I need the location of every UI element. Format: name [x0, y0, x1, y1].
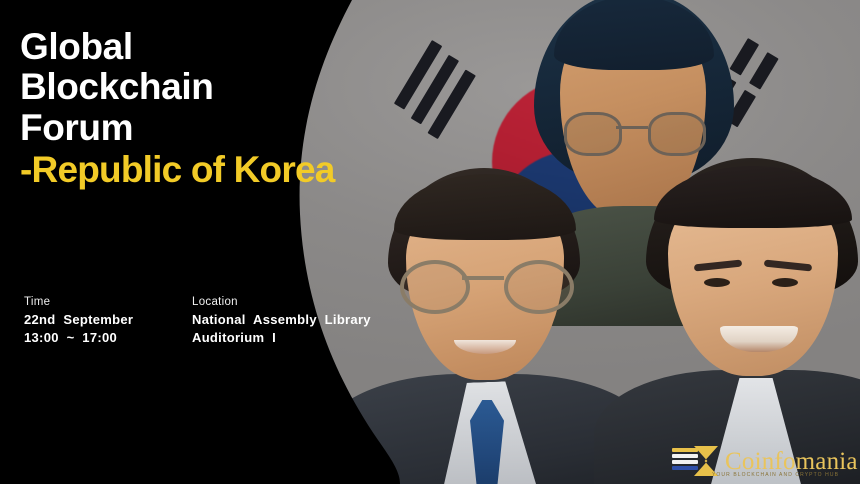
time-range: 13:00 ~ 17:00: [24, 329, 192, 347]
coinfomania-wordmark: Coinfomania: [725, 449, 858, 474]
time-block: Time 22nd September 13:00 ~ 17:00: [24, 296, 192, 347]
title-line-2: Blockchain: [20, 68, 380, 106]
round-glasses-icon: [400, 260, 572, 308]
page-title: Global Blockchain Forum -Republic of Kor…: [20, 28, 380, 192]
title-line-3: Forum: [20, 109, 380, 147]
time-label: Time: [24, 296, 192, 308]
title-line-4: -Republic of Korea: [20, 151, 380, 189]
location-venue: National Assembly Library: [192, 311, 392, 329]
time-date: 22nd September: [24, 311, 192, 329]
title-line-1: Global: [20, 28, 380, 66]
event-details: Time 22nd September 13:00 ~ 17:00 Locati…: [24, 296, 392, 347]
location-label: Location: [192, 296, 392, 308]
event-poster: Global Blockchain Forum -Republic of Kor…: [0, 0, 860, 484]
glasses-icon: [564, 112, 704, 152]
location-block: Location National Assembly Library Audit…: [192, 296, 392, 347]
location-room: Auditorium I: [192, 329, 392, 347]
speaker-left-foreground: [362, 168, 612, 484]
speaker-right-foreground: [628, 158, 860, 484]
coinfomania-tagline: YOUR BLOCKCHAIN AND CRYPTO HUB: [712, 472, 839, 478]
